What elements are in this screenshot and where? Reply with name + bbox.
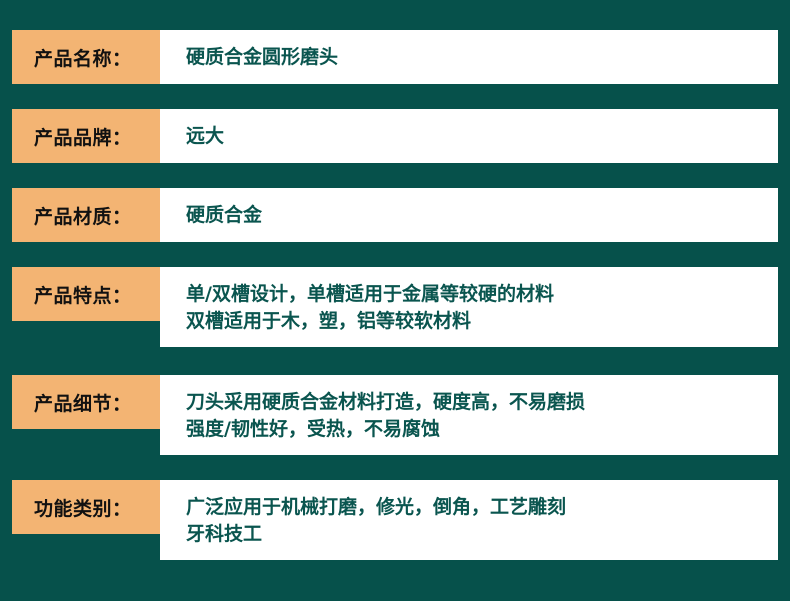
spec-value-product-brand: 远大 [160, 109, 778, 163]
spec-row-product-brand: 产品品牌： 远大 [12, 109, 778, 163]
spec-value-line: 广泛应用于机械打磨，修光，倒角，工艺雕刻 [186, 494, 762, 521]
spec-value-line: 强度/韧性好，受热，不易腐蚀 [186, 416, 762, 443]
spec-value-product-features: 单/双槽设计，单槽适用于金属等较硬的材料 双槽适用于木，塑，铝等较软材料 [160, 267, 778, 347]
spec-value-line: 单/双槽设计，单槽适用于金属等较硬的材料 [186, 281, 762, 308]
spec-row-product-material: 产品材质： 硬质合金 [12, 188, 778, 242]
spec-label-product-details: 产品细节： [12, 375, 160, 429]
spec-value-line: 牙科技工 [186, 521, 762, 548]
spec-label-product-features: 产品特点： [12, 267, 160, 321]
spec-value-line: 双槽适用于木，塑，铝等较软材料 [186, 308, 762, 335]
spec-value-product-material: 硬质合金 [160, 188, 778, 242]
spec-value-function-category: 广泛应用于机械打磨，修光，倒角，工艺雕刻 牙科技工 [160, 480, 778, 560]
spec-value-line: 远大 [186, 123, 762, 150]
spec-row-product-name: 产品名称： 硬质合金圆形磨头 [12, 30, 778, 84]
spec-label-function-category: 功能类别： [12, 480, 160, 534]
spec-row-product-features: 产品特点： 单/双槽设计，单槽适用于金属等较硬的材料 双槽适用于木，塑，铝等较软… [12, 267, 778, 347]
spec-label-product-brand: 产品品牌： [12, 109, 160, 163]
spec-row-function-category: 功能类别： 广泛应用于机械打磨，修光，倒角，工艺雕刻 牙科技工 [12, 480, 778, 560]
spec-value-product-details: 刀头采用硬质合金材料打造，硬度高，不易磨损 强度/韧性好，受热，不易腐蚀 [160, 375, 778, 455]
product-spec-sheet: 产品名称： 硬质合金圆形磨头 产品品牌： 远大 产品材质： 硬质合金 产品特点：… [0, 0, 790, 601]
spec-value-line: 硬质合金圆形磨头 [186, 44, 762, 71]
spec-value-line: 硬质合金 [186, 202, 762, 229]
spec-value-line: 刀头采用硬质合金材料打造，硬度高，不易磨损 [186, 389, 762, 416]
spec-label-product-material: 产品材质： [12, 188, 160, 242]
spec-value-product-name: 硬质合金圆形磨头 [160, 30, 778, 84]
spec-label-product-name: 产品名称： [12, 30, 160, 84]
spec-row-product-details: 产品细节： 刀头采用硬质合金材料打造，硬度高，不易磨损 强度/韧性好，受热，不易… [12, 375, 778, 455]
